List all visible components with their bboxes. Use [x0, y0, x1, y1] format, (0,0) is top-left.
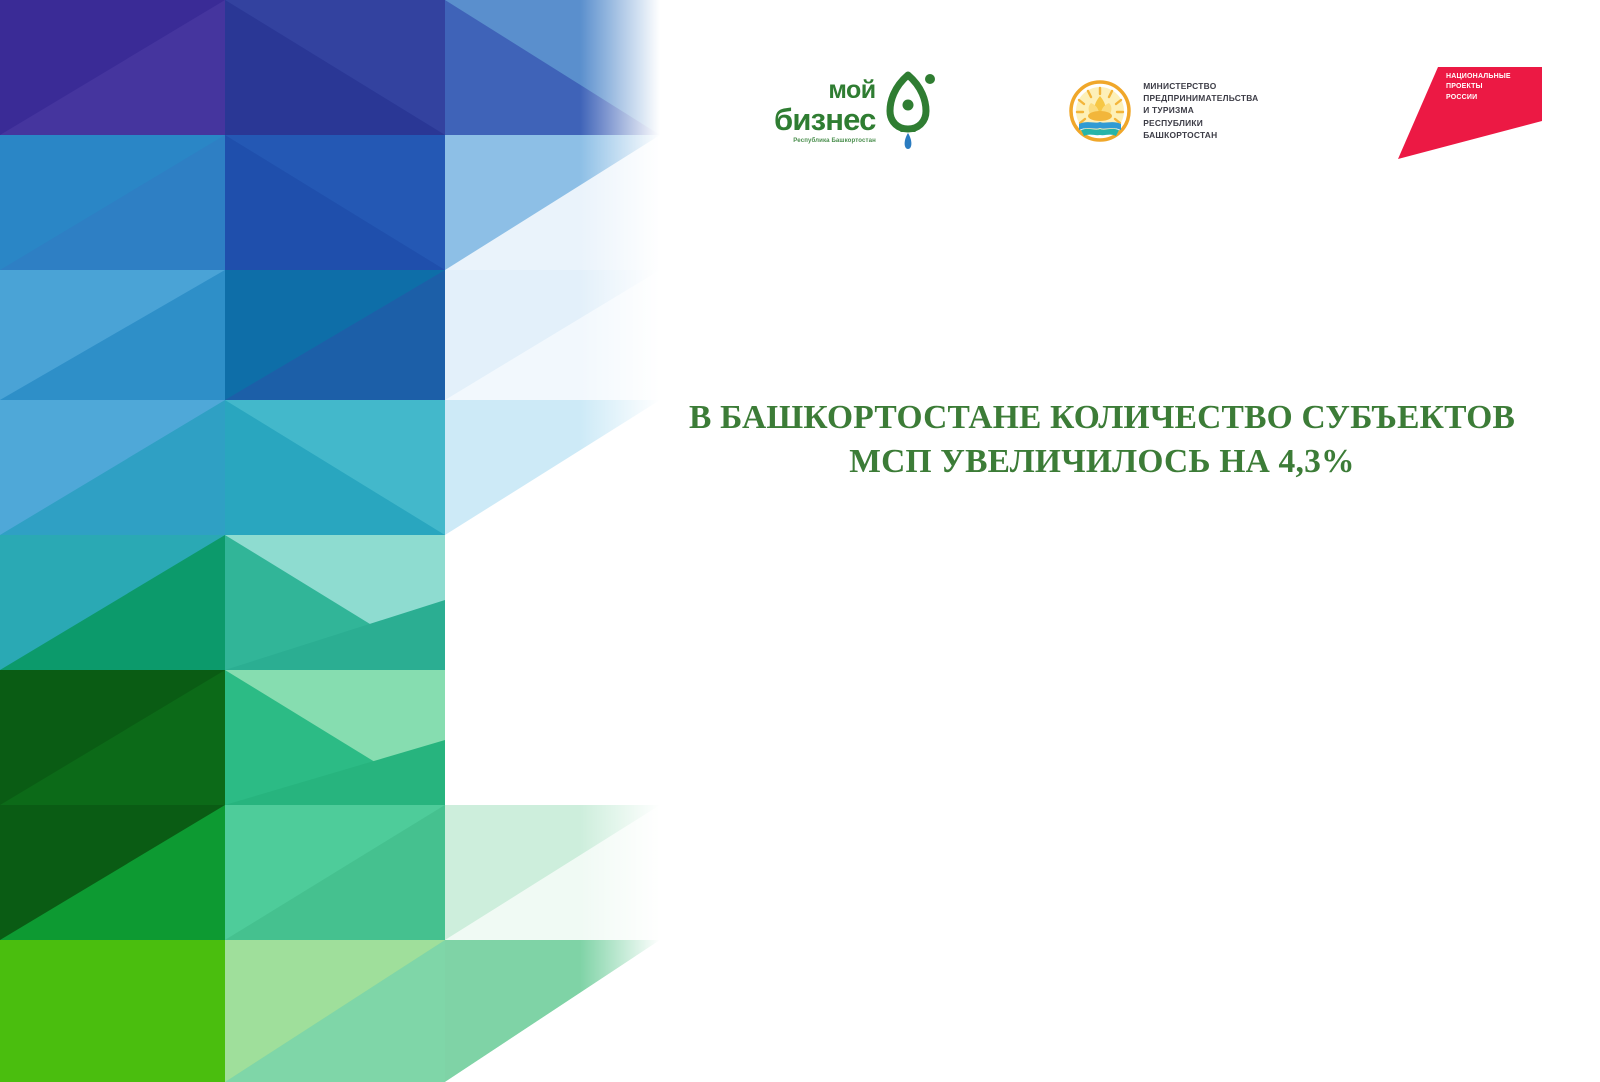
page-title: В БАШКОРТОСТАНЕ КОЛИЧЕСТВО СУБЪЕКТОВ МСП…	[672, 396, 1532, 484]
ministry-line-3: И ТУРИЗМА	[1143, 106, 1258, 115]
ministry-line-4: РЕСПУБЛИКИ	[1143, 119, 1258, 128]
poster-page: мой бизнес Республика Башкортостан	[0, 0, 1600, 1082]
my-business-logo: мой бизнес Республика Башкортостан	[774, 71, 936, 151]
headline-line-2: МСП УВЕЛИЧИЛОСЬ НА 4,3%	[849, 443, 1354, 480]
headline-line-1: В БАШКОРТОСТАНЕ КОЛИЧЕСТВО СУБЪЕКТОВ	[689, 399, 1515, 436]
ministry-wordmark: МИНИСТЕРСТВО ПРЕДПРИНИМАТЕЛЬСТВА И ТУРИЗ…	[1143, 82, 1258, 140]
my-business-subtitle: Республика Башкортостан	[793, 138, 876, 145]
natproj-line-1: НАЦИОНАЛЬНЫЕ	[1446, 73, 1532, 80]
my-business-line1: мой	[828, 78, 875, 103]
rocket-icon	[884, 71, 936, 151]
natproj-line-2: ПРОЕКТЫ	[1446, 83, 1532, 90]
geometric-mosaic-decoration	[0, 0, 660, 1082]
bashkortostan-emblem-icon	[1069, 80, 1131, 142]
ministry-line-1: МИНИСТЕРСТВО	[1143, 82, 1258, 91]
ministry-logo: МИНИСТЕРСТВО ПРЕДПРИНИМАТЕЛЬСТВА И ТУРИЗ…	[1069, 80, 1258, 142]
logo-bar: мой бизнес Республика Башкортостан	[760, 52, 1560, 170]
ministry-line-2: ПРЕДПРИНИМАТЕЛЬСТВА	[1143, 94, 1258, 103]
ministry-line-5: БАШКОРТОСТАН	[1143, 131, 1258, 140]
national-projects-logo: НАЦИОНАЛЬНЫЕ ПРОЕКТЫ РОССИИ	[1392, 59, 1542, 163]
my-business-wordmark: мой бизнес Республика Башкортостан	[774, 78, 876, 145]
natproj-line-3: РОССИИ	[1446, 94, 1532, 101]
my-business-line2: бизнес	[774, 104, 876, 135]
national-projects-wordmark: НАЦИОНАЛЬНЫЕ ПРОЕКТЫ РОССИИ	[1446, 73, 1532, 101]
